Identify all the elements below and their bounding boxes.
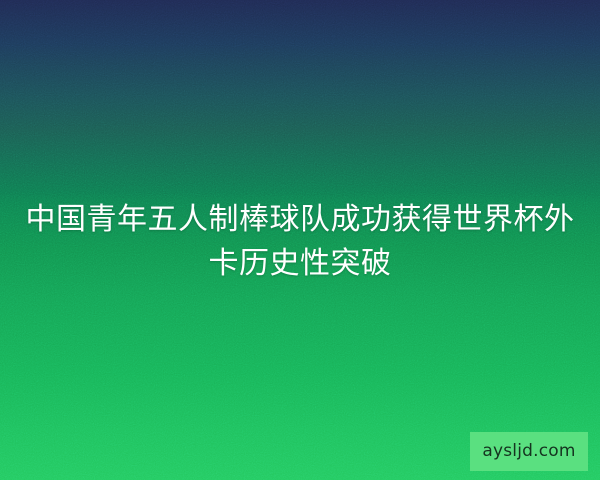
banner-image: 中国青年五人制棒球队成功获得世界杯外卡历史性突破 aysljd.com bbox=[0, 0, 600, 480]
watermark-label: aysljd.com bbox=[482, 443, 575, 460]
page-title: 中国青年五人制棒球队成功获得世界杯外卡历史性突破 bbox=[0, 198, 600, 286]
watermark-badge: aysljd.com bbox=[470, 432, 588, 471]
